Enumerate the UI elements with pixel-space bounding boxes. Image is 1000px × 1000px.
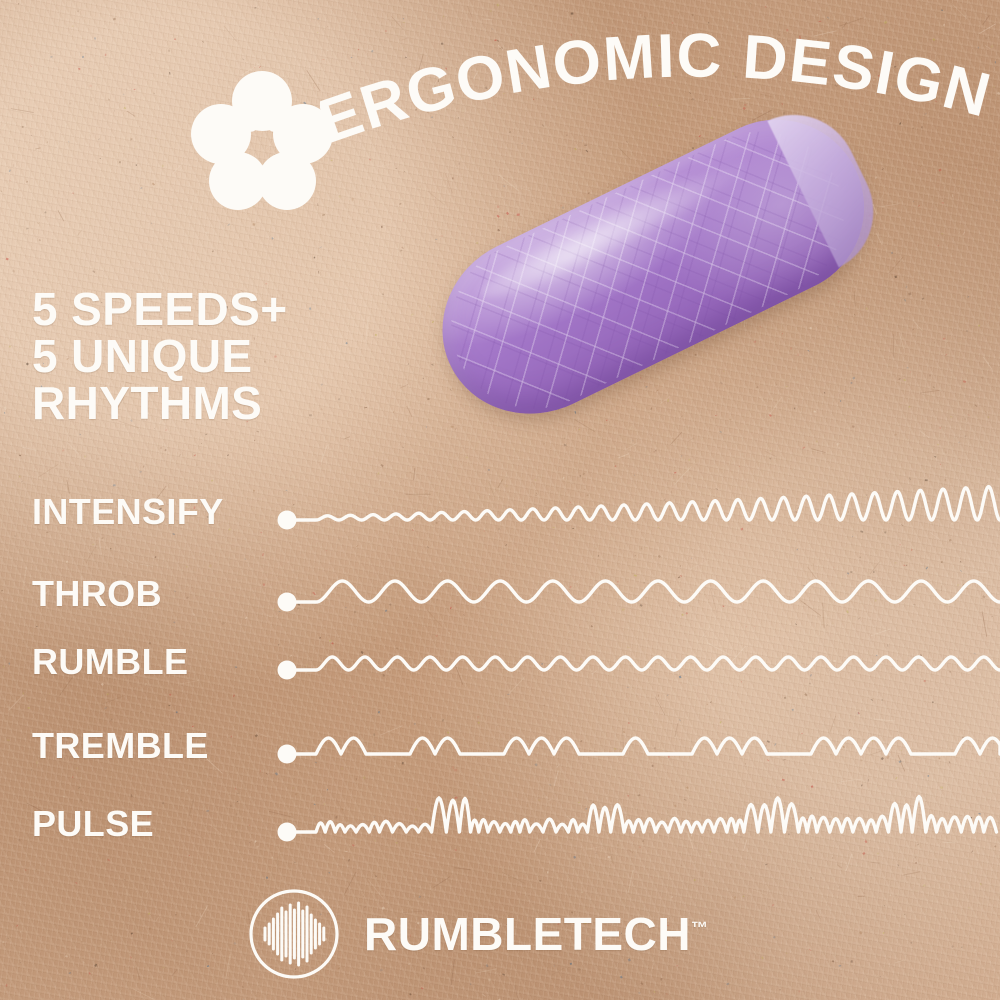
pentagon-bubbles-icon: [190, 68, 335, 213]
product-image: [398, 118, 898, 418]
rhythm-wave-pulse-icon: [272, 780, 1000, 850]
rhythm-label-throb: THROB: [32, 576, 272, 612]
rhythm-label-tremble: TREMBLE: [32, 728, 272, 764]
brand-logo: RUMBLETECH™: [246, 884, 766, 984]
brand-name-text: RUMBLETECH: [364, 908, 691, 960]
rhythm-wave-rumble-icon: [272, 620, 1000, 690]
rhythm-row-pulse[interactable]: PULSE: [0, 780, 1000, 850]
rhythm-label-pulse: PULSE: [32, 806, 272, 842]
brand-name: RUMBLETECH™: [364, 907, 708, 961]
rhythm-label-rumble: RUMBLE: [32, 644, 272, 680]
rhythm-row-rumble[interactable]: RUMBLE: [0, 620, 1000, 690]
rhythm-wave-intensify-icon: [272, 484, 1000, 554]
rhythm-wave-throb-icon: [272, 556, 1000, 626]
waveform-circle-icon: [246, 886, 342, 982]
speeds-line-3: RHYTHMS: [32, 380, 362, 427]
speeds-line-2: 5 UNIQUE: [32, 333, 362, 380]
rhythm-label-intensify: INTENSIFY: [32, 494, 272, 530]
rhythm-row-throb[interactable]: THROB: [0, 556, 1000, 626]
rhythm-row-tremble[interactable]: TREMBLE: [0, 700, 1000, 770]
product-feature-card: ERGONOMIC DESIGN 5 SPEEDS+ 5 UNIQUE RHYT…: [0, 0, 1000, 1000]
trademark-mark: ™: [691, 919, 708, 938]
rhythm-wave-tremble-icon: [272, 700, 1000, 770]
speeds-heading: 5 SPEEDS+ 5 UNIQUE RHYTHMS: [32, 286, 362, 427]
speeds-line-1: 5 SPEEDS+: [32, 286, 362, 333]
rhythm-row-intensify[interactable]: INTENSIFY: [0, 484, 1000, 554]
